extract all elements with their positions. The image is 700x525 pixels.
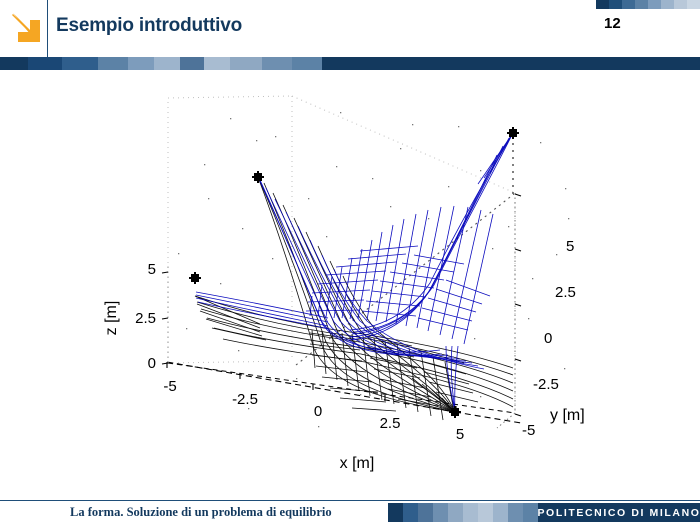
footer-gradient-block-4 <box>448 503 463 522</box>
footer-gradient-block-6 <box>478 503 493 522</box>
x-tick-label-2: 0 <box>314 403 322 420</box>
header-bar-block-11 <box>322 57 700 70</box>
footer-brand: POLITECNICO DI MILANO <box>538 503 700 522</box>
x-tick-label-0: -5 <box>163 378 176 395</box>
header-bar-block-2 <box>62 57 98 70</box>
y-tick-label-0: 5 <box>566 238 574 255</box>
footer-gradient-block-8 <box>508 503 523 522</box>
header-gradient-block-2 <box>622 0 635 9</box>
page-number: 12 <box>604 15 621 32</box>
footer-divider <box>0 500 700 501</box>
header-accent-bar <box>0 57 700 70</box>
header-gradient-block-0 <box>596 0 609 9</box>
matlab-3d-plot: 5 2.5 0 -5 -2.5 0 2.5 5 5 2.5 0 -2.5 -5 … <box>60 78 700 488</box>
header-gradient-strip <box>596 0 700 9</box>
header-bar-block-1 <box>28 57 62 70</box>
header-bar-block-3 <box>98 57 128 70</box>
header-bar-block-4 <box>128 57 154 70</box>
header-bar-block-10 <box>292 57 322 70</box>
footer-gradient-block-3 <box>433 503 448 522</box>
header-gradient-block-3 <box>635 0 648 9</box>
membrane-mesh-upper <box>196 133 513 412</box>
z-tick-label-2: 0 <box>148 355 156 372</box>
anchor-high-left <box>252 171 264 183</box>
y-tick-label-3: -2.5 <box>533 376 559 393</box>
header-bar-block-6 <box>180 57 204 70</box>
header-bar-block-9 <box>262 57 292 70</box>
header-bar-block-5 <box>154 57 180 70</box>
header-gradient-block-1 <box>609 0 622 9</box>
x-axis <box>167 362 521 423</box>
footer-gradient-block-9 <box>523 503 538 522</box>
anchor-low-left <box>189 272 201 284</box>
footer-gradient-block-7 <box>493 503 508 522</box>
footer-gradient-block-0 <box>388 503 403 522</box>
x-tick-label-4: 5 <box>456 426 464 443</box>
y-tick-label-4: -5 <box>522 422 535 439</box>
y-axis-ticks <box>515 194 521 416</box>
header-gradient-block-5 <box>661 0 674 9</box>
footer-gradient-strip <box>388 503 538 522</box>
axis-box-wireframe <box>168 96 515 413</box>
y-axis-label: y [m] <box>550 407 585 424</box>
arrow-down-right-icon <box>10 10 44 48</box>
z-tick-label-1: 2.5 <box>135 310 156 327</box>
x-axis-label: x [m] <box>340 455 375 472</box>
header-bar-block-0 <box>0 57 28 70</box>
x-tick-label-3: 2.5 <box>380 415 401 432</box>
footer-gradient-block-5 <box>463 503 478 522</box>
header-gradient-block-6 <box>674 0 687 9</box>
slide-footer: La forma. Soluzione di un problema di eq… <box>0 500 700 525</box>
y-tick-label-2: 0 <box>544 330 552 347</box>
footer-gradient-block-1 <box>403 503 418 522</box>
header-gradient-block-7 <box>687 0 700 9</box>
mesh-speckle <box>178 112 569 427</box>
z-axis-label: z [m] <box>103 301 120 336</box>
y-tick-label-1: 2.5 <box>555 284 576 301</box>
header-bar-block-7 <box>204 57 230 70</box>
header-bar-block-8 <box>230 57 262 70</box>
z-axis-ticks <box>162 272 168 364</box>
footer-gradient-block-2 <box>418 503 433 522</box>
z-tick-label-0: 5 <box>148 261 156 278</box>
footer-caption: La forma. Soluzione di un problema di eq… <box>70 505 332 520</box>
header-gradient-block-4 <box>648 0 661 9</box>
page-title: Esempio introduttivo <box>56 15 242 37</box>
x-tick-label-1: -2.5 <box>232 391 258 408</box>
slide-header: Esempio introduttivo 12 <box>0 0 700 57</box>
header-divider <box>47 0 48 57</box>
